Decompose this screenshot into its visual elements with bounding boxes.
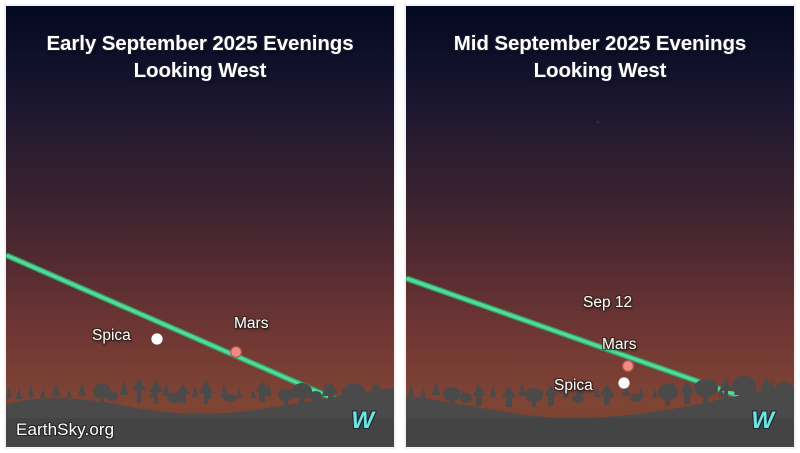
ground-band-right [406,418,794,447]
panel-early-september: Early September 2025 Evenings Looking We… [4,4,396,449]
faint-star-speck [596,120,599,123]
earthsky-watermark: EarthSky.org [16,420,114,440]
sky-chart-figure: Early September 2025 Evenings Looking We… [0,0,800,453]
compass-west-left: W [351,407,374,435]
spica-dot-right[interactable] [618,377,629,388]
spica-dot[interactable] [151,333,162,344]
mars-dot[interactable] [231,347,241,357]
scene-right [406,6,794,447]
mars-dot-right[interactable] [623,361,633,371]
compass-west-right: W [751,407,774,435]
scene-left [6,6,394,447]
panel-mid-september: Mid September 2025 Evenings Looking West… [404,4,796,449]
